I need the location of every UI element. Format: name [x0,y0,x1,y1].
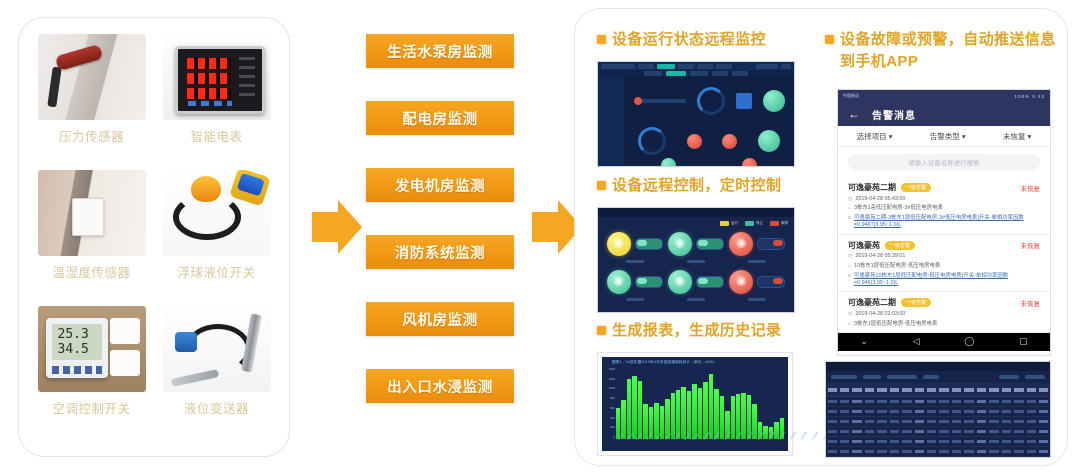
table-cell [1014,410,1023,413]
sensor-item-temp-humidity[interactable]: 温湿度传感器 [33,170,150,304]
chart-bar [709,374,713,439]
alarm-list-item[interactable]: 可逸豪苑二期 一级告警 未恢复 ◷2019-04-28 05:43:00 ⌂3栋… [838,177,1050,235]
table-cell [915,410,924,413]
sensor-item-smart-meter[interactable]: 智能电表 [158,34,275,168]
table-cell [877,440,886,443]
table-cell [989,450,998,453]
android-navigation-bar: ⌄ ◁ ◯ ▢ [838,333,1050,351]
table-cell [1039,450,1048,453]
status-indicator-ok [758,130,780,152]
table-cell [1039,400,1048,403]
fan-icon: ✺ [729,270,753,294]
table-header-cell [840,388,849,392]
table-header-cell [989,388,998,392]
alarm-project: 可逸豪苑 [848,240,880,251]
info-icon: ≡ [848,273,851,280]
fan-label [687,260,705,263]
table-cell [952,430,961,433]
monitoring-scenario-list: 生活水泵房监测 配电房监测 发电机房监测 消防系统监测 风机房监测 出入口水浸监… [366,34,514,403]
table-cell [915,440,924,443]
chart-y-tick: 1000 [604,387,615,390]
table-cell [890,440,899,443]
table-cell [915,450,924,453]
clock-icon: ◷ [848,311,852,318]
table-cell [1027,400,1036,403]
chart-bar [698,388,702,439]
alarm-project: 可逸豪苑二期 [848,182,896,193]
table-cell [964,440,973,443]
table-cell [828,400,837,403]
table-cell [1014,430,1023,433]
table-cell [852,440,861,443]
legend-running: 运行 [720,221,738,226]
alarm-filter-bar: 选择项目 ▾ 告警类型 ▾ 未恢复 ▾ [838,126,1050,147]
alarm-search-input[interactable]: 请输入设备名称进行搜索 [848,154,1040,170]
table-cell [964,450,973,453]
home-circle-icon[interactable]: ◯ [964,336,974,347]
table-row[interactable] [826,407,1050,417]
status-indicator-ok [661,158,676,167]
table-cell [989,440,998,443]
sensor-label: 温湿度传感器 [52,262,130,281]
table-cell [952,420,961,423]
table-cell [865,430,874,433]
table-cell [927,420,936,423]
alarm-list-item[interactable]: 可逸豪苑 一级告警 未恢复 ◷2019-04-28 05:39:01 ⌂10栋东… [838,235,1050,293]
fan-label [626,260,644,263]
alarm-detail[interactable]: 可逸豪苑10栋东1层低压配电房-低压电房电表]开关-单相功率因数=0.946(3… [854,273,1040,288]
alarm-status: 未恢复 [1021,183,1041,193]
table-cell [977,440,986,443]
table-cell [828,410,837,413]
phone-navbar: ← 告警消息 [838,102,1050,126]
table-cell [989,430,998,433]
table-cell [1039,440,1048,443]
sensor-label: 液位变送器 [184,398,249,417]
fan-toggle[interactable] [635,238,663,250]
sensor-label: 压力传感器 [59,126,124,145]
table-cell [1027,420,1036,423]
chart-bar [681,387,685,439]
table-cell [1002,440,1011,443]
device-status-dashboard[interactable] [597,61,795,167]
chart-y-tick: 200 [604,426,615,429]
fan-control-item[interactable]: ✺ [604,266,665,304]
capability-heading-alarm-push: 设备故障或预警，自动推送信息到手机APP [825,29,1057,73]
square-bullet-icon [597,181,606,190]
table-cell [989,400,998,403]
fan-label [748,298,766,301]
alarm-level-badge: 一级告警 [901,183,931,192]
heading-text: 设备故障或预警，自动推送信息到手机APP [840,29,1057,73]
table-row[interactable] [826,447,1050,457]
air-conditioner-control-switch-photo [38,306,146,392]
table-cell [902,410,911,413]
status-legend: 运行 停止 故障 [598,217,794,226]
table-row[interactable] [826,457,1050,458]
table-cell [1002,420,1011,423]
table-cell [927,430,936,433]
table-cell [877,420,886,423]
table-cell [890,430,899,433]
table-row[interactable] [826,437,1050,447]
search-placeholder: 请输入设备名称进行搜索 [908,157,980,167]
pressure-slider[interactable] [634,99,686,103]
alarm-level-badge: 一级告警 [885,241,915,250]
sensor-item-pressure[interactable]: 压力传感器 [33,34,150,168]
table-cell [890,410,899,413]
gauge-widget [638,127,666,155]
chart-bar [632,376,636,439]
fan-control-item[interactable]: ✺ [665,228,726,266]
table-cell [952,440,961,443]
status-indicator-alarm [722,134,737,149]
table-cell [840,440,849,443]
table-titlebar [826,362,1050,371]
table-cell [989,420,998,423]
chart-y-axis: 1400120010008006004002000 [604,368,615,439]
gauge-widget [697,87,725,115]
table-cell [952,410,961,413]
chart-y-tick: 0 [604,436,615,439]
battery-time-label: 100% 9:43 [1014,94,1045,99]
table-cell [927,440,936,443]
chart-y-tick: 1200 [604,378,615,381]
alarm-time: 2019-04-28 05:39:01 [855,253,905,260]
table-cell [1002,430,1011,433]
table-header-cell [877,388,886,392]
status-indicator-alarm [687,134,702,149]
mobile-alarm-app[interactable]: 中国移动 100% 9:43 ← 告警消息 选择项目 ▾ 告警类型 ▾ 未恢复 … [837,89,1051,356]
table-cell [915,400,924,403]
table-row[interactable] [826,397,1050,407]
back-triangle-icon[interactable]: ◁ [913,336,920,347]
table-cell [939,420,948,423]
table-cell [977,400,986,403]
dashboard-sidebar[interactable] [598,77,624,166]
fan-control-item[interactable]: ✺ [604,228,665,266]
table-header-cell [890,388,899,392]
table-cell [1027,410,1036,413]
sensor-label: 空调控制开关 [52,398,130,417]
table-cell [927,450,936,453]
chevron-down-icon[interactable]: ⌄ [860,336,868,347]
table-header-cell [1027,388,1036,392]
table-cell [890,400,899,403]
table-cell [840,410,849,413]
capability-heading-remote-control: 设备远程控制，定时控制 [597,175,817,197]
filter-status[interactable]: 未恢复 ▾ [1003,131,1031,142]
table-cell [977,430,986,433]
table-cell [852,430,861,433]
sensor-item-level-transmitter[interactable]: 液位变送器 [158,306,275,440]
scenario-button-distribution-room[interactable]: 配电房监测 [366,101,514,135]
table-cell [939,430,948,433]
scenario-button-entrance-flood[interactable]: 出入口水浸监测 [366,369,514,403]
sensor-item-float-switch[interactable]: 浮球液位开关 [158,170,275,304]
table-cell [977,410,986,413]
device-icon: ⌂ [848,205,851,212]
table-header-cell [952,388,961,392]
table-cell [865,450,874,453]
table-cell [890,450,899,453]
table-cell [828,430,837,433]
dashboard-subtabs [598,70,794,77]
sensor-device-card: 压力传感器 智能电表 温湿度传感器 浮球液位开关 [18,17,290,457]
table-cell [915,420,924,423]
square-bullet-icon [597,35,606,44]
table-cell [828,420,837,423]
capability-heading-reports: 生成报表，生成历史记录 [597,320,817,342]
back-arrow-icon[interactable]: ← [848,107,860,121]
table-cell [939,440,948,443]
table-header-cell [865,388,874,392]
table-cell [852,420,861,423]
heading-text: 生成报表，生成历史记录 [612,320,781,342]
filter-alarm-type[interactable]: 告警类型 ▾ [930,131,966,142]
chart-y-tick: 1400 [604,368,615,371]
table-cell [828,450,837,453]
table-cell [852,450,861,453]
alarm-time: 2019-04-28 05:43:00 [855,196,905,203]
table-cell [1039,410,1048,413]
table-cell [1039,420,1048,423]
table-cell [852,410,861,413]
table-cell [902,420,911,423]
table-header-cell [915,388,924,392]
square-bullet-icon [825,35,834,44]
legend-stopped: 停止 [745,221,763,226]
fan-label [626,298,644,301]
fan-remote-control-panel[interactable]: 运行 停止 故障 ✺ ✺ ✺ ✺ [597,207,795,313]
table-cell [877,450,886,453]
table-cell [865,400,874,403]
scenario-button-generator-room[interactable]: 发电机房监测 [366,168,514,202]
chart-y-tick: 400 [604,417,615,420]
table-cell [1027,430,1036,433]
table-cell [939,410,948,413]
chart-bars [616,368,784,439]
alarm-detail[interactable]: 可逸豪苑二期-3栋东1层低压配电房-3#低压电房电表]开关-单相功率因数=0.9… [854,215,1040,230]
fan-toggle[interactable] [635,276,663,288]
table-cell [865,420,874,423]
recents-square-icon[interactable]: ▢ [1019,336,1028,347]
fan-label [748,260,766,263]
table-cell [902,400,911,403]
table-cell [1014,440,1023,443]
table-cell [840,450,849,453]
table-cell [1002,400,1011,403]
alarm-status: 未恢复 [1021,240,1041,250]
table-cell [902,430,911,433]
fan-icon: ✺ [607,232,631,256]
table-header-cell [852,388,861,392]
phone-status-bar: 中国移动 100% 9:43 [838,90,1050,102]
table-header-cell [1002,388,1011,392]
heading-text: 设备运行状态远程监控 [612,29,766,51]
energy-consumption-bar-chart[interactable]: 图表1 - 1#变压器2019年4月份各回路能耗统计（单位：kWh） 14001… [597,352,793,456]
table-header-cell [1039,388,1048,392]
table-cell [977,420,986,423]
alarm-level-badge: 一级告警 [901,298,931,307]
capability-heading-monitoring: 设备运行状态远程监控 [597,29,812,51]
table-cell [1014,450,1023,453]
table-cell [1027,440,1036,443]
alarm-time: 2019-04-28 02:03:00 [855,311,905,318]
carrier-label: 中国移动 [843,93,859,99]
square-bullet-icon [597,326,606,335]
status-indicator-alarm [742,158,757,167]
fan-toggle[interactable] [757,276,785,288]
table-cell [915,430,924,433]
table-row[interactable] [826,427,1050,437]
table-cell [1027,450,1036,453]
table-cell [1014,400,1023,403]
sensor-label: 智能电表 [190,126,242,145]
table-cell [964,400,973,403]
table-cell [939,450,948,453]
heading-text: 设备远程控制，定时控制 [612,175,781,197]
device-icon: ⌂ [848,263,851,270]
history-report-table[interactable] [825,361,1051,458]
table-header-cell [977,388,986,392]
table-cell [840,420,849,423]
sensor-grid: 压力传感器 智能电表 温湿度传感器 浮球液位开关 [33,34,275,440]
table-cell [1002,410,1011,413]
table-body [826,383,1050,458]
table-cell [989,410,998,413]
float-level-switch-photo [163,170,271,256]
scenario-button-fan-room[interactable]: 风机房监测 [366,302,514,336]
table-header-cell [939,388,948,392]
table-cell [877,430,886,433]
table-cell [852,400,861,403]
table-cell [877,400,886,403]
table-cell [1014,420,1023,423]
table-cell [877,410,886,413]
alarm-device: 3栋东1层低压配电房-低压电房电表 [854,321,937,328]
scenario-button-fire-system[interactable]: 消防系统监测 [366,235,514,269]
table-cell [865,440,874,443]
sensor-item-ac-switch[interactable]: 空调控制开关 [33,306,150,440]
table-cell [902,450,911,453]
table-cell [840,430,849,433]
table-cell [840,400,849,403]
alarm-device: 10栋东1层低压配电房-低压电房电表 [854,263,940,270]
infographic-page: 压力传感器 智能电表 温湿度传感器 浮球液位开关 [0,0,1080,474]
level-transmitter-photo [163,306,271,392]
fan-control-item[interactable]: ✺ [665,266,726,304]
table-toolbar[interactable] [826,371,1050,383]
table-cell [890,420,899,423]
table-cell [964,410,973,413]
chart-x-axis: 1号回路2号回路3号回路4号回路5号回路6号回路7号回路8号回路9号回路10号回… [616,439,784,450]
dashboard-topbar [598,62,794,70]
phone-page-title: 告警消息 [872,107,916,122]
alarm-list-item[interactable]: 可逸豪苑二期 一级告警 未恢复 ◷2019-04-28 02:03:00 ⌂3栋… [838,292,1050,333]
table-header-cell [1014,388,1023,392]
alarm-device: 3栋东1층低压配电房-3#低压电房电表 [854,205,943,212]
clock-icon: ◷ [848,253,852,260]
fan-control-item[interactable]: ✺ [727,228,788,266]
device-icon: ⌂ [848,321,851,328]
table-cell [964,430,973,433]
chart-bar [627,379,631,439]
temperature-humidity-sensor-photo [38,170,146,256]
table-header-cell [902,388,911,392]
table-cell [865,410,874,413]
platform-capability-card: 设备运行状态远程监控 设备故障或预警，自动推送信息到手机APP 设备远程控制，定… [574,8,1068,466]
status-indicator-ok [763,90,785,112]
fan-icon: ✺ [607,270,631,294]
table-header-cell [964,388,973,392]
table-cell [828,440,837,443]
table-row[interactable] [826,417,1050,427]
table-cell [952,450,961,453]
fan-toggle[interactable] [757,238,785,250]
table-cell [939,400,948,403]
alarm-project: 可逸豪苑二期 [848,297,896,308]
dashboard-widgets [624,77,794,166]
fan-label [687,298,705,301]
panel-titlebar [598,208,794,217]
table-cell [952,400,961,403]
table-header-cell [927,388,936,392]
clock-icon: ◷ [848,196,852,203]
chart-bar [638,381,642,439]
sensor-label: 浮球液位开关 [177,262,255,281]
chart-title: 图表1 - 1#变压器2019年4月份各回路能耗统计（单位：kWh） [612,360,717,365]
table-cell [964,420,973,423]
fan-control-item[interactable]: ✺ [727,266,788,304]
pressure-sensor-photo [38,34,146,120]
table-cell [902,440,911,443]
chart-y-tick: 600 [604,407,615,410]
fan-icon: ✺ [668,270,692,294]
table-cell [977,450,986,453]
status-tile[interactable] [736,93,752,109]
scenario-button-water-pump-room[interactable]: 生活水泵房监测 [366,34,514,68]
table-header-row [826,383,1050,397]
chart-y-tick: 800 [604,397,615,400]
fan-icon: ✺ [668,232,692,256]
smart-meter-photo [163,34,271,120]
table-cell [927,410,936,413]
alarm-status: 未恢复 [1021,298,1041,308]
legend-fault: 故障 [770,221,788,226]
flow-arrow-right-1 [308,196,364,258]
table-cell [1039,430,1048,433]
fan-icon: ✺ [729,232,753,256]
table-header-cell [828,388,837,392]
fan-toggle[interactable] [696,276,724,288]
table-cell [1002,450,1011,453]
info-icon: ≡ [848,215,851,222]
table-cell [927,400,936,403]
fan-toggle[interactable] [696,238,724,250]
filter-project[interactable]: 选择项目 ▾ [857,131,893,142]
